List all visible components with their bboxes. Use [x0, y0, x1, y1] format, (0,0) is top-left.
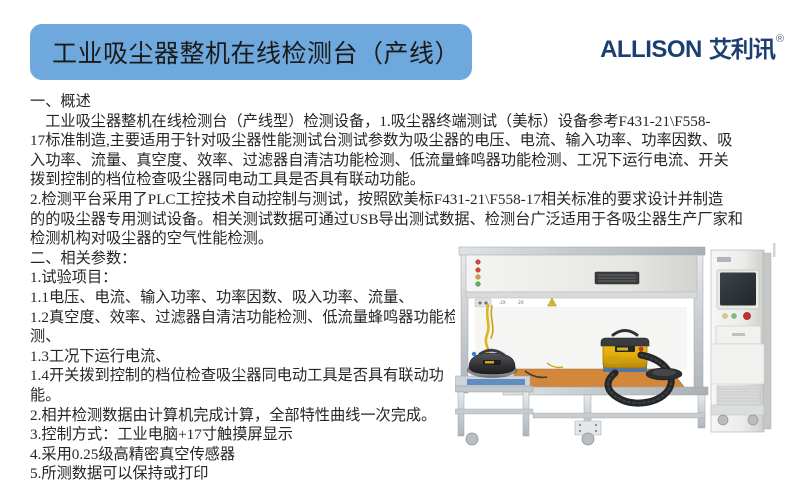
param-1-3: 1.3工况下运行电流、: [30, 347, 460, 367]
top-pipe: [773, 243, 776, 257]
caster-wheel: [748, 415, 758, 425]
overview-line-4: 拨到控制的档位检查吸尘器同电动工具是否具有联动功能。: [30, 170, 782, 190]
caster-wheel: [582, 433, 594, 445]
section-one-heading: 一、概述: [30, 92, 782, 112]
vacuum-black-port: [472, 352, 476, 356]
emergency-stop-button: [743, 312, 750, 319]
registered-trademark-icon: ®: [776, 34, 784, 45]
param-1-4: 1.4开关拨到控制的档位检查吸尘器同电动工具是否具有联动功能。: [30, 366, 460, 405]
param-2: 2.相并检测数据由计算机完成计算，全部特性曲线一次完成。: [30, 406, 460, 426]
hood-panel: [466, 255, 697, 292]
overview-line-2: 17标准制造,主要适用于针对吸尘器性能测试台测试参数为吸尘器的电压、电流、输入功…: [30, 131, 782, 151]
indicator-light-red: [476, 260, 481, 265]
page-title-box: 工业吸尘器整机在线检测台（产线）: [30, 24, 472, 80]
indicator-light-green: [476, 282, 481, 287]
cabinet-brand-label: [717, 257, 731, 262]
param-4: 4.采用0.25级高精密真空传感器: [30, 445, 460, 465]
touch-screen: [720, 273, 756, 306]
frame-leg: [698, 395, 705, 428]
param-1-2: 1.2真空度、效率、过滤器自清洁功能检测、低流量蜂鸣器功能检测、: [30, 308, 460, 347]
param-3: 3.控制方式：工业电脑+17寸触摸屏显示: [30, 425, 460, 445]
indicator-light-red-2: [476, 268, 481, 273]
slide-root: 工业吸尘器整机在线检测台（产线） ALLISON 艾利讯 ® 一、概述 工业吸尘…: [0, 0, 800, 450]
logo-text-cn: 艾利讯: [709, 38, 775, 61]
logo-text-en: ALLISON: [600, 38, 702, 62]
overview-line-1: 工业吸尘器整机在线检测台（产线型）检测设备，1.吸尘器终端测试（美标）设备参考F…: [30, 112, 782, 132]
overview-line-6: 的的吸尘器专用测试设备。相关测试数据可通过USB导出测试数据、检测台广泛适用于各…: [30, 210, 782, 230]
svg-text:!: !: [551, 301, 553, 307]
overview-line-3: 入功率、流量、真空度、效率、过滤器自清洁功能检测、低流量蜂鸣器功能检测、工况下运…: [30, 151, 782, 171]
param-5: 5.所测数据可以保持或打印: [30, 464, 460, 484]
caster-wheel: [718, 415, 728, 425]
page-title: 工业吸尘器整机在线检测台（产线）: [30, 34, 460, 70]
param-1: 1.试验项目：: [30, 268, 460, 288]
blue-platform-left: [467, 379, 525, 385]
hood-label-1: ·2X: [499, 300, 506, 305]
company-logo: ALLISON 艾利讯 ®: [600, 38, 784, 62]
panel-button-yellow: [723, 314, 728, 319]
indicator-light-amber: [476, 275, 481, 280]
caster-wheel: [466, 433, 478, 445]
param-1-1: 1.1电压、电流、输入功率、功率因数、吸入功率、流量、: [30, 288, 460, 308]
panel-button-green: [732, 314, 737, 319]
hood-label-2: ·2X: [517, 300, 524, 305]
touch-panel-cabinet: [711, 250, 771, 432]
vacuum-yellow-head: [601, 338, 649, 346]
overview-line-5: 2.检测平台采用了PLC工控技术自动控制与测试，按照欧美标F431-21\F55…: [30, 190, 782, 210]
vacuum-yellow-switch: [639, 347, 644, 352]
equipment-photo: ·2X ·2X !: [455, 243, 793, 448]
